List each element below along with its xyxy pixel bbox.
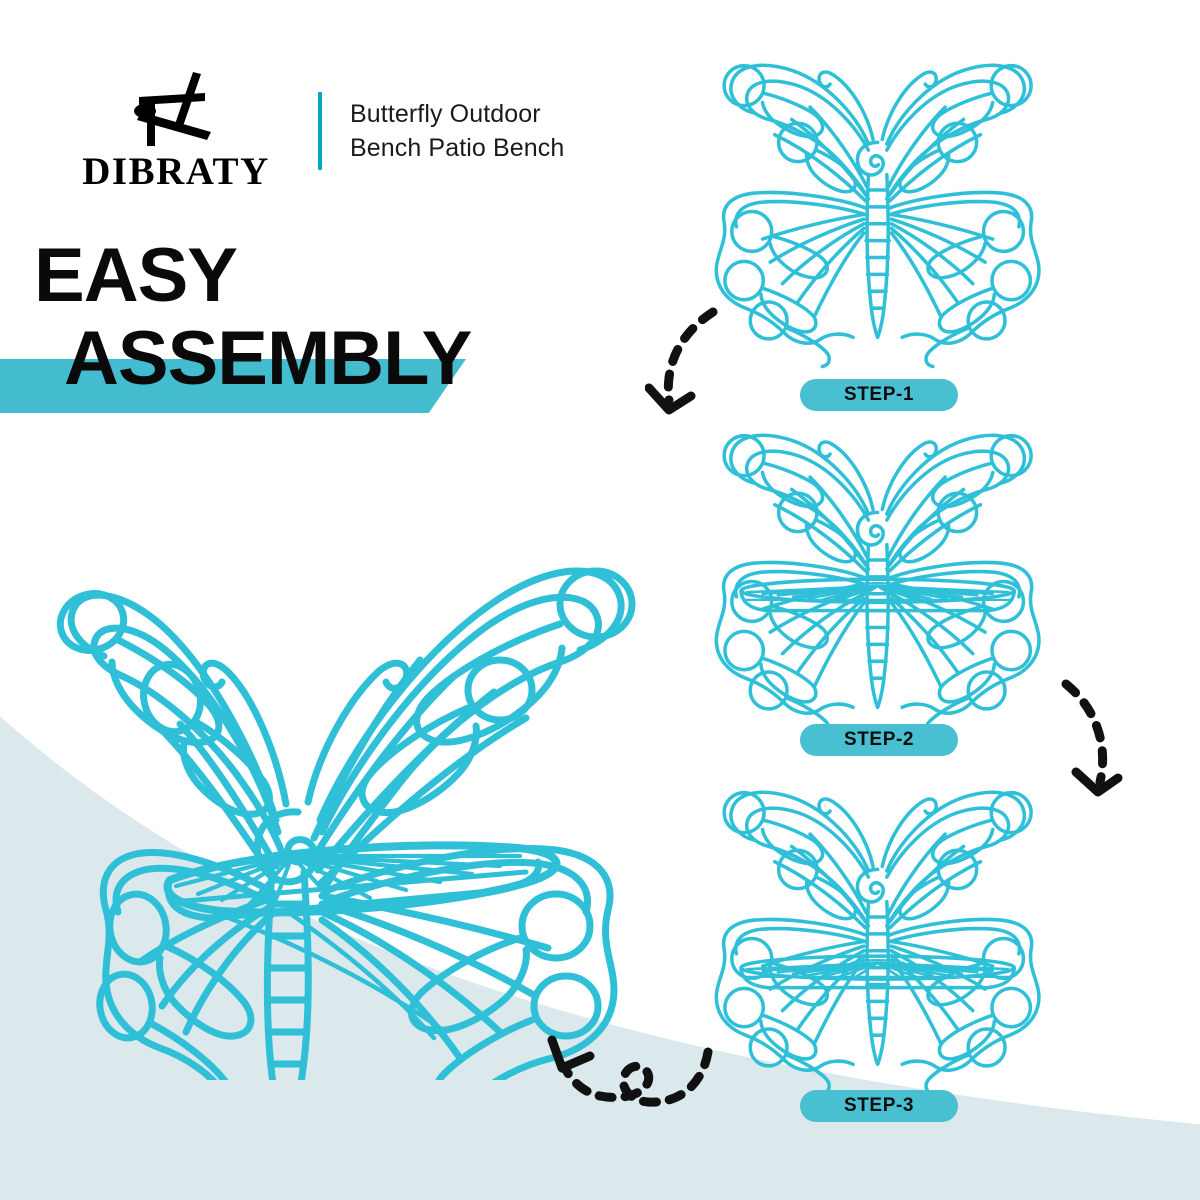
step-1-label: STEP-1 <box>844 384 914 406</box>
step-3-label: STEP-3 <box>844 1095 914 1117</box>
brand-divider <box>318 92 322 170</box>
step-2-badge: STEP-2 <box>800 724 958 756</box>
product-subtitle: Butterfly Outdoor Bench Patio Bench <box>350 97 564 165</box>
headline-line-1: EASY <box>34 240 471 313</box>
brand-name: DIBRATY <box>82 152 269 191</box>
hero-butterfly-bench <box>20 520 660 1080</box>
arrow-step1-to-step2 <box>645 300 765 430</box>
step-1-badge: STEP-1 <box>800 379 958 411</box>
chair-icon <box>121 70 231 150</box>
infographic-canvas: DIBRATY Butterfly Outdoor Bench Patio Be… <box>0 0 1200 1200</box>
step-2-label: STEP-2 <box>844 729 914 751</box>
headline-block: EASY ASSEMBLY <box>30 240 471 413</box>
brand-header: DIBRATY Butterfly Outdoor Bench Patio Be… <box>76 70 564 191</box>
brand-logo: DIBRATY <box>76 70 276 191</box>
headline-line-2: ASSEMBLY <box>64 321 471 397</box>
arrow-step2-to-step3 <box>1032 672 1147 812</box>
step-3-badge: STEP-3 <box>800 1090 958 1122</box>
headline-row-2: ASSEMBLY <box>30 321 471 413</box>
arrow-step3-to-hero <box>532 1022 722 1137</box>
